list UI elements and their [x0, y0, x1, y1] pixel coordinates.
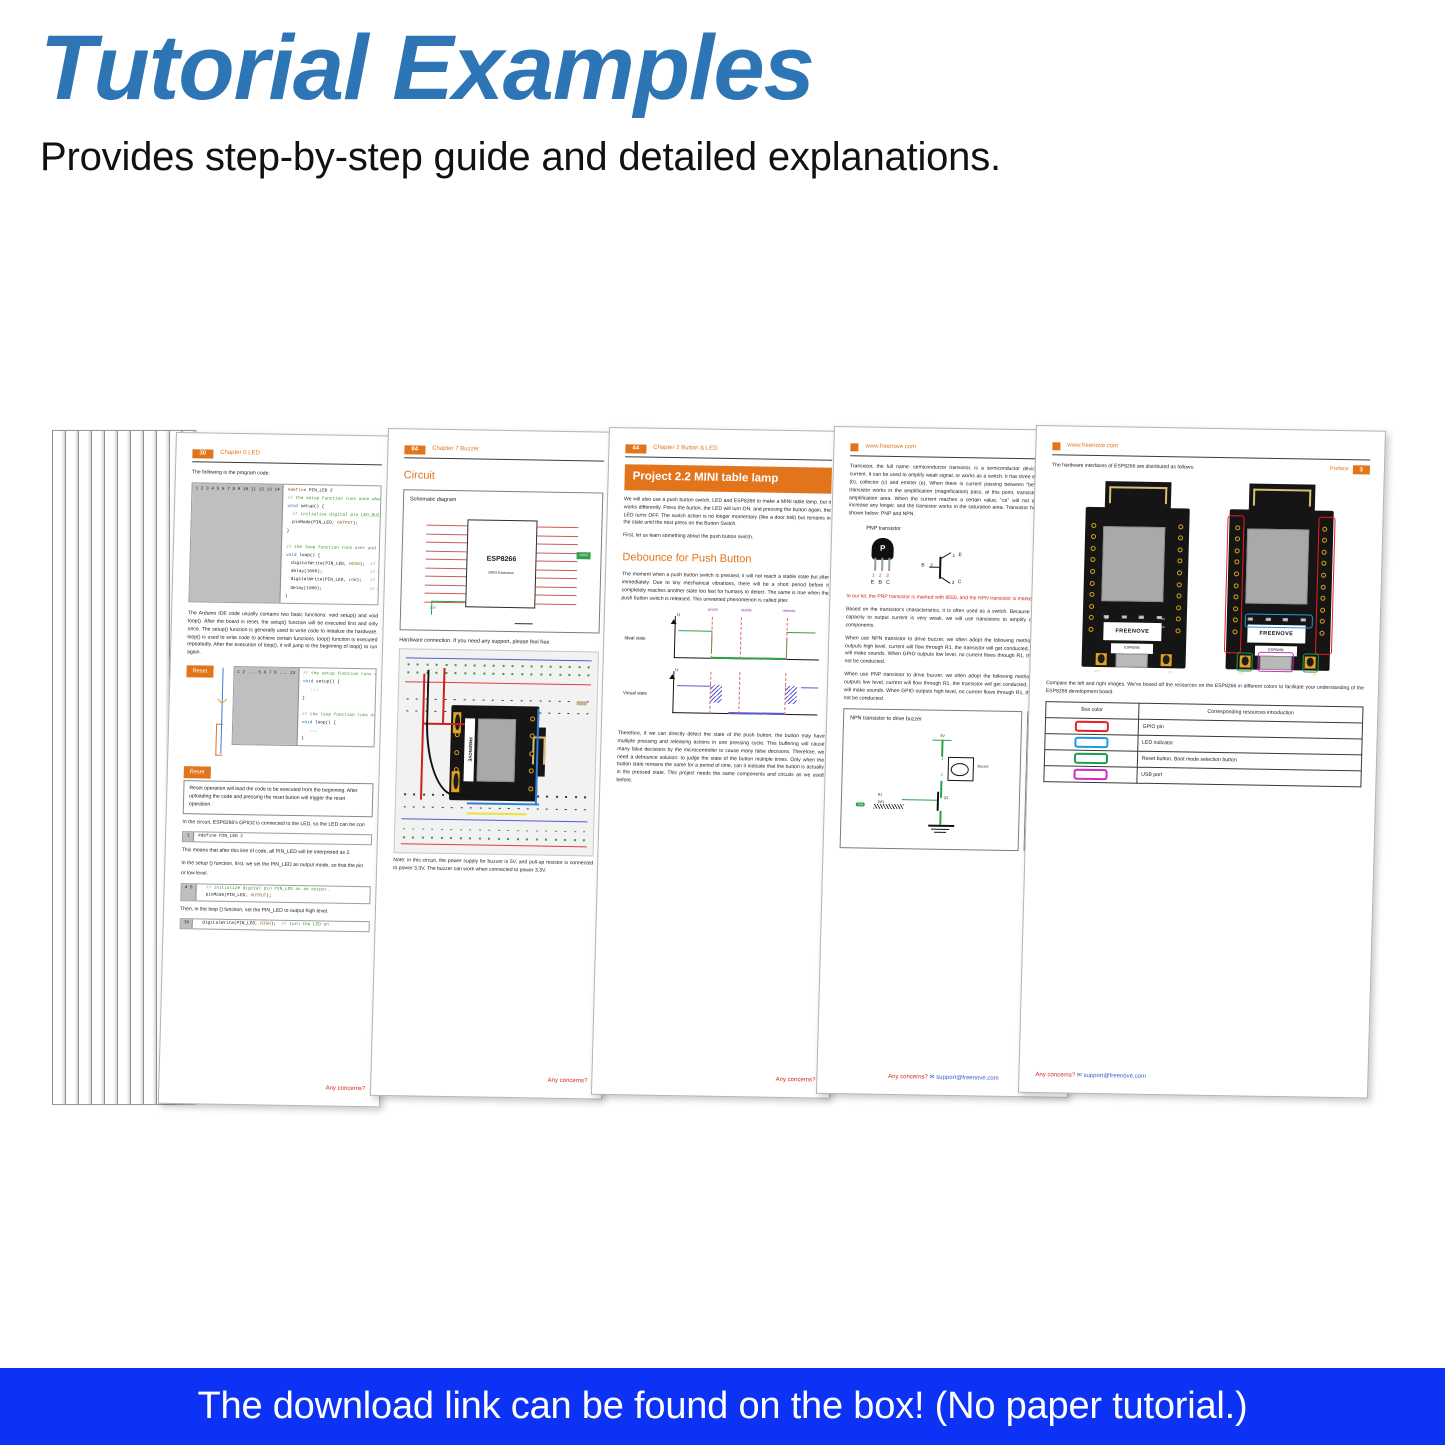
led-label-16: 16	[1105, 616, 1108, 621]
document-fan-illustration: 30 Chapter 0 LED The following is the pr…	[0, 0, 1445, 1368]
reset-flow-tag: Reset	[186, 665, 213, 677]
schematic-ic-subtitle: GPIO Extension	[467, 570, 536, 577]
snippet-define: 1 #define PIN_LED 2	[182, 832, 372, 846]
swatch-red	[1075, 720, 1109, 732]
preface-label: Preface	[1330, 465, 1349, 474]
snippet-pinmode: 4 5 // initialize digital pin PIN_LED as…	[180, 883, 370, 904]
boot-button-label: IO0	[1168, 670, 1173, 675]
page-footer: Any concerns?	[608, 1073, 815, 1086]
snippet-define-line: 1	[183, 833, 194, 842]
download-link-banner: The download link can be found on the bo…	[0, 1368, 1445, 1445]
snippet-pinmode-source: // initialize digital pin PIN_LED as an …	[196, 884, 334, 902]
highlight-gpio-right	[1315, 517, 1336, 655]
board-wordmark: FREENOVE	[1103, 622, 1162, 641]
buzzer-label: Buzzer	[977, 764, 988, 770]
cell-swatch	[1044, 765, 1137, 783]
text-loop-high: Then, in the loop () function, set the P…	[180, 906, 370, 917]
debounce-body: The moment when a push button switch is …	[621, 572, 829, 607]
figure-schematic: Schematic diagram ESP8266 GPIO Extension	[400, 489, 604, 634]
footer-email[interactable]: support@freenove.com	[1083, 1073, 1146, 1080]
swatch-blue	[1074, 736, 1108, 748]
brand-square-icon	[1052, 442, 1060, 450]
page-header: 84 Chapter 7 Buzzer	[404, 443, 604, 458]
chapter-label: Chapter 0 LED	[220, 449, 260, 459]
flow-code-line-numbers: 1 2 ... 5 6 7 8 ... 13	[232, 667, 299, 745]
page-header: 30 Chapter 0 LED	[192, 447, 382, 462]
compare-text: Compare the left and right images. We've…	[1046, 680, 1364, 701]
snippet-digitalwrite-line: 10	[181, 920, 194, 929]
cell-resource: USB port	[1136, 767, 1361, 787]
figure-caption-npn: NPN transistor to drive buzzer	[850, 714, 1015, 725]
col-header-box-color: Box color	[1046, 701, 1139, 719]
usb-port	[1116, 653, 1148, 668]
page-header: 44 Chapter 2 Button & LED	[625, 442, 832, 457]
esp8266-board-annotated: FREENOVE ESP8266 RST IO0	[1225, 509, 1333, 671]
highlight-led-indicator	[1245, 613, 1313, 628]
project-body-2: First, let us learn something about the …	[623, 533, 830, 544]
schematic-pins-left	[409, 521, 467, 607]
swatch-green	[1074, 752, 1108, 764]
banner-text: The download link can be found on the bo…	[198, 1385, 1248, 1428]
r1-label: R1	[878, 793, 883, 799]
page-footer: Any concerns?	[387, 1074, 587, 1087]
hardware-intro: The hardware interfaces of ESP8266 are d…	[1052, 462, 1370, 475]
site-label: www.freenove.com	[865, 443, 916, 453]
vcc-label: 5V	[940, 733, 945, 739]
snippet-pinmode-lines: 4 5	[181, 884, 196, 900]
schematic-ic-name: ESP8266	[467, 555, 536, 567]
code-block-main: 1 2 3 4 5 6 7 8 9 10 11 12 13 14 #define…	[188, 482, 381, 605]
cell-swatch	[1045, 733, 1138, 751]
section-heading-debounce: Debounce for Push Button	[622, 550, 829, 570]
intro-text: The following is the program code:	[192, 469, 382, 480]
figure-breadboard: FREENOVE	[394, 648, 600, 856]
brand-square-icon	[850, 443, 858, 451]
code-line-numbers: 1 2 3 4 5 6 7 8 9 10 11 12 13 14	[189, 483, 284, 602]
figure-caption-hardware: Hardware connection. If you need any sup…	[399, 637, 599, 649]
schematic-pins-right	[536, 523, 594, 609]
reset-button-label: RST	[1238, 671, 1244, 676]
footer-prefix: Any concerns?	[888, 1074, 928, 1081]
highlight-reset-button	[1236, 652, 1253, 671]
q1-label: Q1	[944, 796, 949, 802]
footer-prefix: Any concerns?	[326, 1085, 366, 1092]
chapter-label: Chapter 7 Buzzer	[432, 445, 479, 455]
preface-page-badge: 3	[1352, 465, 1370, 474]
wave-label-virtual: Virtual state	[623, 689, 647, 697]
snippet-digitalwrite: 10 digitalWrite(PIN_LED, HIGH); // turn …	[180, 919, 370, 933]
text-low-level: or low level.	[181, 870, 371, 881]
footer-prefix: Any concerns?	[548, 1077, 588, 1084]
page-footer: Any concerns?	[175, 1082, 365, 1094]
schematic-ic: ESP8266 GPIO Extension	[465, 520, 538, 608]
highlight-usb-port	[1257, 652, 1294, 673]
chapter-label: Chapter 2 Button & LED	[653, 444, 718, 454]
code-source: #define PIN_LED 2 // the setup function …	[281, 485, 381, 605]
box-color-table: Box color Corresponding resources introd…	[1043, 701, 1363, 787]
figure-waveforms: press stable release U Ideal state	[618, 611, 828, 721]
project-body-1: We will also use a push button switch, L…	[623, 496, 831, 531]
page-footer: Any concerns? ✉ support@freenove.com	[1035, 1071, 1353, 1086]
section-heading-circuit: Circuit	[403, 467, 603, 487]
swatch-magenta	[1073, 768, 1107, 780]
figure-caption-schematic: Schematic diagram	[410, 495, 596, 506]
boot-button	[1161, 654, 1173, 667]
figure-npn-driver: NPN transistor to drive buzzer 5V Buzzer…	[840, 708, 1023, 851]
cell-swatch	[1045, 717, 1138, 735]
tutorial-page-hardware[interactable]: www.freenove.com The hardware interfaces…	[1018, 425, 1386, 1099]
text-gpio2: In the circuit, ESP8266's GPIO2 is conne…	[182, 819, 372, 830]
pin-net-label: PIN	[856, 802, 865, 807]
wave-ideal: U Ideal state	[620, 611, 828, 666]
board-comparison-figure: 16 ON TX RX FREENOVE ESP8266 RST IO0	[1046, 484, 1369, 671]
highlight-boot-button	[1302, 653, 1319, 672]
snippet-define-source: #define PIN_LED 2	[194, 833, 247, 843]
page-number-badge: 84	[404, 445, 425, 454]
reset-callout-tag: Reset	[184, 766, 211, 778]
body-paragraph: The Arduino IDE code usually contains tw…	[187, 610, 378, 660]
footer-email[interactable]: support@freenove.com	[936, 1074, 999, 1081]
cell-swatch	[1044, 749, 1137, 767]
schematic-net-label: GPIO	[576, 552, 591, 560]
pnp-pin-labels: EBC	[869, 578, 895, 587]
snippet-digitalwrite-source: digitalWrite(PIN_LED, HIGH); // turn the…	[193, 920, 333, 931]
debounce-conclusion: Therefore, if we can directly detect the…	[616, 730, 824, 789]
envelope-icon: ✉	[929, 1074, 934, 1080]
wave-virtual: U Virtual state	[618, 666, 826, 721]
led-label-tx: TX	[1161, 617, 1165, 622]
pnp-package-icon	[869, 537, 896, 571]
flow-arrows	[215, 666, 229, 758]
tutorial-page-buzzer[interactable]: 84 Chapter 7 Buzzer Circuit Schematic di…	[370, 428, 620, 1100]
flow-code-source: // the setup function runs once when you…	[297, 668, 375, 747]
boot-button-label: IO0	[1312, 672, 1317, 677]
reset-button	[1095, 653, 1107, 666]
text-pinled-meaning: This means that after this line of code,…	[182, 847, 372, 858]
page-number-badge: 30	[192, 449, 213, 458]
note-text: Note: in this circuit, the power supply …	[393, 857, 593, 876]
code-block-flow: 1 2 ... 5 6 7 8 ... 13 // the setup func…	[231, 666, 377, 748]
reset-callout-text: Reset operation will lead the code to be…	[183, 780, 374, 817]
site-label: www.freenove.com	[1067, 442, 1118, 452]
tutorial-page-button[interactable]: 44 Chapter 2 Button & LED Project 2.2 MI…	[591, 427, 848, 1099]
envelope-icon: ✉	[1077, 1072, 1082, 1078]
page-number-badge: 44	[625, 444, 646, 453]
project-band-title: Project 2.2 MINI table lamp	[624, 464, 832, 493]
wave-label-ideal: Ideal state	[624, 634, 645, 641]
footer-prefix: Any concerns?	[776, 1077, 816, 1084]
preface-tag: Preface 3	[1330, 465, 1370, 475]
reset-button-label: RST	[1094, 669, 1100, 674]
tutorial-page-led[interactable]: 30 Chapter 0 LED The following is the pr…	[158, 432, 398, 1107]
footer-prefix: Any concerns?	[1035, 1072, 1075, 1079]
esp8266-board-plain: 16 ON TX RX FREENOVE ESP8266 RST IO0	[1081, 507, 1189, 669]
